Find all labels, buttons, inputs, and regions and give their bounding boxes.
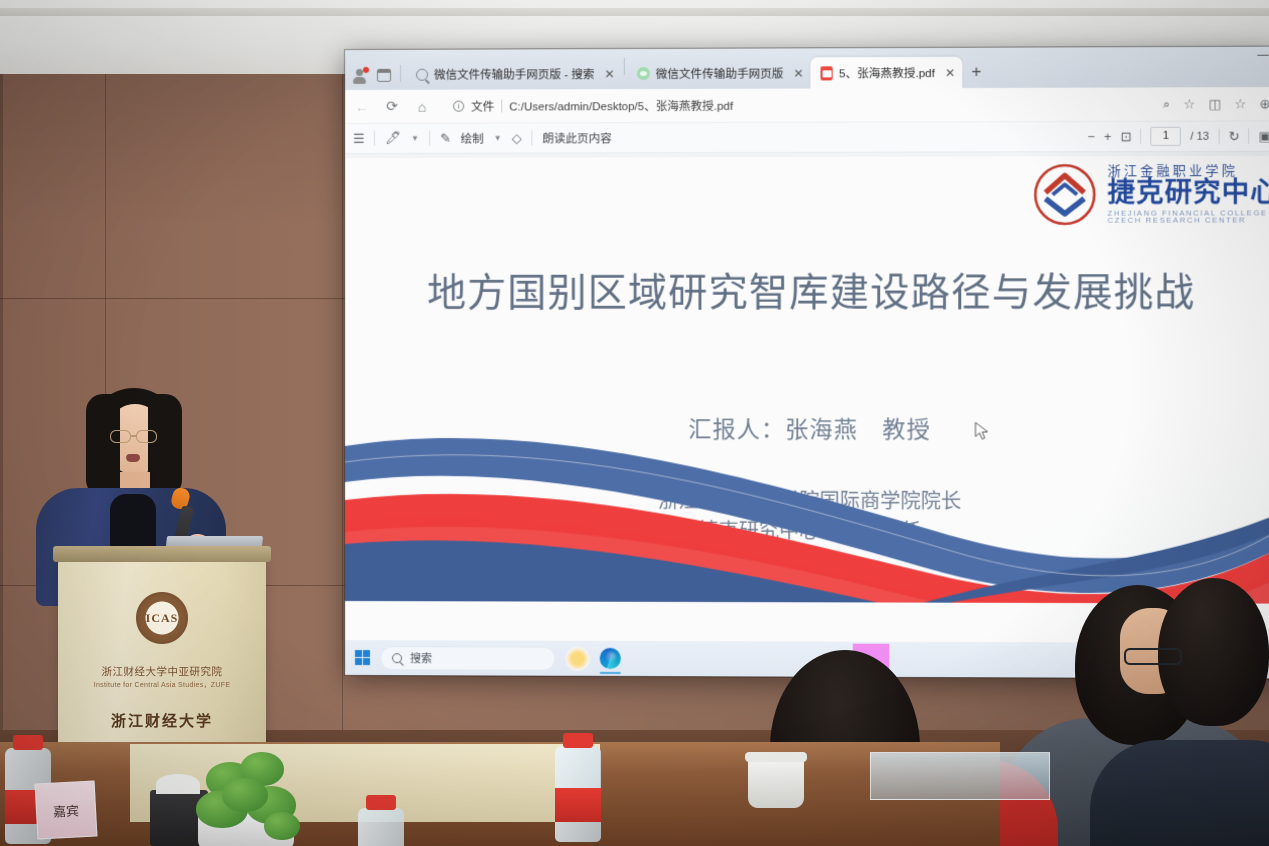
plant-leaf [222, 778, 268, 812]
reload-icon[interactable]: ⟳ [383, 98, 401, 115]
guest-name-card: 嘉宾 [35, 780, 98, 839]
divider [501, 100, 502, 113]
plant-leaf [264, 812, 300, 840]
read-aloud-button[interactable]: 朗读此页内容 [542, 130, 611, 146]
divider [400, 65, 401, 82]
edge-icon[interactable] [600, 648, 621, 669]
tab-wechat[interactable]: 微信文件传输助手网页版 ✕ [627, 57, 811, 89]
tab-pdf[interactable]: 5、张海燕教授.pdf ✕ [811, 57, 962, 89]
address-url: C:/Users/admin/Desktop/5、张海燕教授.pdf [509, 97, 733, 114]
new-tab-button[interactable]: + [962, 62, 990, 88]
draw-icon[interactable]: ✎ [440, 131, 451, 146]
divider [624, 58, 625, 75]
slide-title: 地方国别区域研究智库建设路径与发展挑战 [345, 261, 1269, 318]
institute-name-cn: 浙江财经大学中亚研究院 [58, 664, 266, 679]
water-bottle [358, 808, 404, 846]
fit-page-icon[interactable]: ⊡ [1121, 129, 1132, 144]
start-button[interactable] [355, 650, 370, 665]
scheme-label: 文件 [471, 98, 494, 114]
search-placeholder: 搜索 [410, 650, 432, 666]
icas-seal-logo: ICAS [136, 592, 188, 644]
toc-icon[interactable]: ☰ [353, 131, 364, 146]
tab-label: 微信文件传输助手网页版 - 搜索 [434, 66, 594, 83]
logo-english-line2: CZECH RESEARCH CENTER [1108, 217, 1269, 225]
lectern-top [53, 546, 271, 562]
home-icon[interactable]: ⌂ [413, 98, 431, 114]
total-pages-label: / 13 [1190, 130, 1209, 142]
university-name: 浙江财经大学 [58, 710, 266, 731]
address-input[interactable]: i 文件 C:/Users/admin/Desktop/5、张海燕教授.pdf [443, 92, 1144, 118]
pdf-page-area[interactable]: 浙江金融职业学院 捷克研究中心 ZHEJIANG FINANCIAL COLLE… [345, 152, 1269, 604]
address-bar-icons: ⌕ ☆ ◫ ☆ ⊕ [1157, 96, 1269, 113]
tab-actions-icon[interactable] [377, 69, 391, 82]
wall-seam [342, 74, 343, 774]
taskbar-search-input[interactable]: 搜索 [380, 646, 555, 671]
info-icon[interactable]: i [453, 101, 464, 112]
weather-icon[interactable] [566, 646, 590, 670]
pdf-icon [821, 66, 833, 80]
logo-center-name: 捷克研究中心 [1108, 178, 1269, 207]
tab-search[interactable]: 微信文件传输助手网页版 - 搜索 ✕ [406, 58, 622, 90]
minimize-button[interactable]: — [1257, 49, 1268, 61]
speaker-glasses-bridge [131, 435, 137, 437]
slide-wave-decoration [345, 416, 1269, 604]
search-icon [392, 653, 402, 663]
draw-label: 绘制 [461, 130, 484, 146]
split-screen-icon[interactable]: ◫ [1209, 96, 1222, 112]
highlighter-icon[interactable]: 🖊 [385, 131, 401, 146]
eraser-icon[interactable]: ◇ [512, 131, 522, 146]
ceiling-strip [0, 8, 1269, 16]
divider [374, 131, 375, 146]
audience-glasses-3 [1124, 648, 1182, 665]
collections-icon[interactable]: ☆ [1234, 96, 1246, 112]
back-icon[interactable]: ← [353, 98, 371, 114]
pdf-toolbar-right: − + ⊡ 1 / 13 ↻ ▣ [1087, 126, 1269, 146]
audience-body-3 [1090, 740, 1269, 846]
zoom-out-button[interactable]: − [1087, 129, 1094, 143]
favorite-star-icon[interactable]: ☆ [1183, 96, 1195, 112]
divider [1218, 129, 1219, 144]
search-icon [416, 68, 428, 80]
institute-name-en: Institute for Central Asia Studies，ZUFE [58, 680, 266, 690]
tab-label: 5、张海燕教授.pdf [839, 64, 935, 80]
presentation-slide: 浙江金融职业学院 捷克研究中心 ZHEJIANG FINANCIAL COLLE… [345, 156, 1269, 604]
page-view-icon[interactable]: ▣ [1259, 129, 1269, 144]
divider [429, 131, 430, 146]
water-bottle [555, 746, 601, 842]
logo-college-name: 浙江金融职业学院 [1108, 163, 1269, 177]
conference-room-scene: 微信文件传输助手网页版 - 搜索 ✕ 微信文件传输助手网页版 ✕ 5、张海燕教授… [0, 0, 1269, 846]
rotate-icon[interactable]: ↻ [1229, 129, 1240, 144]
divider [1140, 129, 1141, 144]
close-icon[interactable]: ✕ [794, 66, 804, 80]
close-icon[interactable]: ✕ [945, 65, 955, 79]
pdf-toolbar: ☰ 🖊 ▼ ✎ 绘制 ▼ ◇ 朗读此页内容 − + ⊡ 1 / 13 ↻ ▣ [345, 121, 1269, 154]
divider [1248, 129, 1249, 144]
divider [531, 130, 532, 145]
speaker-mouth [126, 454, 140, 462]
chevron-down-icon[interactable]: ▼ [494, 134, 502, 143]
speaker-hair-left [86, 394, 120, 498]
projected-browser-window: 微信文件传输助手网页版 - 搜索 ✕ 微信文件传输助手网页版 ✕ 5、张海燕教授… [345, 47, 1269, 679]
table-glass-panel [870, 752, 1050, 800]
zoom-in-button[interactable]: + [1104, 129, 1111, 143]
titlebar-left-controls [353, 68, 391, 90]
logo-mark-icon [1032, 162, 1097, 227]
wall-edge-band [0, 74, 3, 774]
paper-cup [748, 758, 804, 808]
tab-label: 微信文件传输助手网页版 [656, 65, 784, 81]
chevron-down-icon[interactable]: ▼ [411, 134, 419, 143]
page-number-input[interactable]: 1 [1151, 127, 1182, 146]
logo-text: 浙江金融职业学院 捷克研究中心 ZHEJIANG FINANCIAL COLLE… [1108, 163, 1269, 225]
browser-title-bar: 微信文件传输助手网页版 - 搜索 ✕ 微信文件传输助手网页版 ✕ 5、张海燕教授… [345, 47, 1269, 90]
profile-avatar-icon[interactable] [353, 68, 368, 83]
speaker-glasses-right [136, 430, 157, 443]
address-bar-row: ← ⟳ ⌂ i 文件 C:/Users/admin/Desktop/5、张海燕教… [345, 87, 1269, 124]
window-controls: — [1257, 49, 1268, 61]
speaker-glasses-left [110, 430, 131, 443]
add-to-icon[interactable]: ⊕ [1260, 96, 1269, 112]
close-icon[interactable]: ✕ [604, 67, 614, 81]
zoom-icon[interactable]: ⌕ [1163, 96, 1170, 112]
czech-research-center-logo: 浙江金融职业学院 捷克研究中心 ZHEJIANG FINANCIAL COLLE… [1032, 162, 1269, 227]
wechat-icon [637, 67, 650, 80]
speaker-hair-right [148, 394, 182, 498]
